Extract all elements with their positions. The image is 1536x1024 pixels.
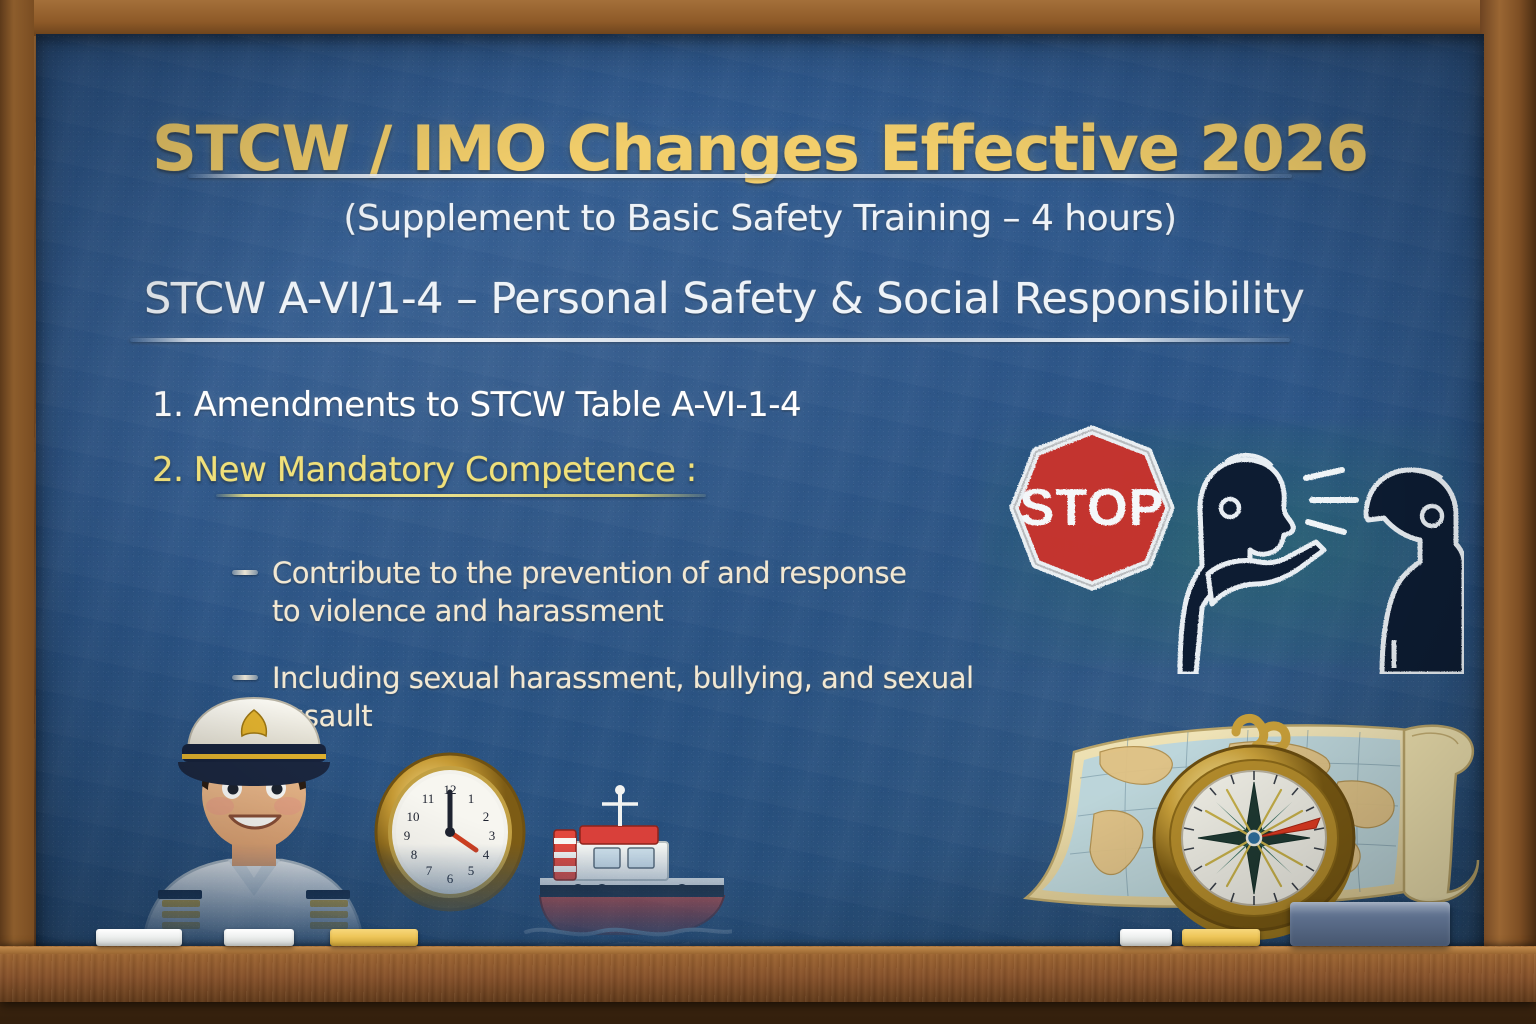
listening-person-icon [1366, 470, 1464, 674]
frame-top [0, 0, 1536, 36]
captain-cap-icon [178, 698, 330, 786]
svg-text:10: 10 [407, 809, 420, 824]
svg-text:7: 7 [426, 863, 433, 878]
list-item-label: Amendments to STCW Table A-VI-1-4 [194, 385, 801, 425]
title-underline [188, 174, 1292, 178]
dash-bullet-icon [232, 675, 258, 680]
list-item-number: 2. [152, 450, 194, 490]
ledge-lip [0, 947, 1536, 954]
svg-text:11: 11 [422, 791, 435, 806]
svg-text:3: 3 [489, 828, 496, 843]
stop-sign-icon: STOP [1014, 430, 1170, 586]
section-heading-underline [130, 338, 1290, 342]
svg-text:1: 1 [468, 791, 475, 806]
svg-text:5: 5 [468, 863, 475, 878]
chalkboard-surface: STCW / IMO Changes Effective 2026 (Suppl… [36, 34, 1484, 975]
page-subtitle: (Supplement to Basic Safety Training – 4… [36, 198, 1484, 239]
frame-left [0, 0, 34, 1024]
dash-bullet-icon [232, 570, 258, 575]
tugboat-icon [526, 785, 732, 949]
numbered-list: 1. Amendments to STCW Table A-VI-1-4 2. … [152, 386, 952, 516]
svg-text:6: 6 [447, 871, 454, 886]
white-chalk[interactable] [224, 929, 294, 946]
yellow-chalk[interactable] [1182, 929, 1260, 946]
captain-clock-boat-illustration: 1212 345 678 91011 [132, 682, 732, 952]
shouting-person-icon [1180, 455, 1324, 674]
felt-eraser[interactable] [1290, 902, 1450, 946]
white-chalk[interactable] [1120, 929, 1172, 946]
sub-bullet-label: Contribute to the prevention of and resp… [272, 554, 906, 631]
list-item: 1. Amendments to STCW Table A-VI-1-4 [152, 386, 952, 425]
section-heading: STCW A-VI/1-4 – Personal Safety & Social… [144, 274, 1304, 324]
white-chalk[interactable] [96, 929, 182, 946]
list-item-number: 1. [152, 385, 194, 425]
list-item: 2. New Mandatory Competence : [152, 451, 952, 490]
sub-bullet-item: Contribute to the prevention of and resp… [232, 554, 1062, 631]
stop-sign-illustration: STOP [964, 412, 1464, 674]
shout-lines-icon [1306, 470, 1356, 532]
frame-right [1480, 0, 1536, 1024]
svg-text:4: 4 [483, 847, 490, 862]
yellow-chalk[interactable] [330, 929, 418, 946]
svg-text:STOP: STOP [1020, 479, 1165, 537]
chalk-ledge [0, 946, 1536, 1002]
brass-clock-icon: 1212 345 678 91011 [376, 754, 524, 910]
ship-captain-icon [142, 698, 364, 952]
svg-text:9: 9 [404, 828, 411, 843]
svg-text:2: 2 [483, 809, 490, 824]
chalkboard-slide: STCW / IMO Changes Effective 2026 (Suppl… [0, 0, 1536, 1024]
list-item-label: New Mandatory Competence : [194, 450, 697, 490]
list-item-2-underline [216, 494, 706, 497]
svg-text:8: 8 [411, 847, 418, 862]
